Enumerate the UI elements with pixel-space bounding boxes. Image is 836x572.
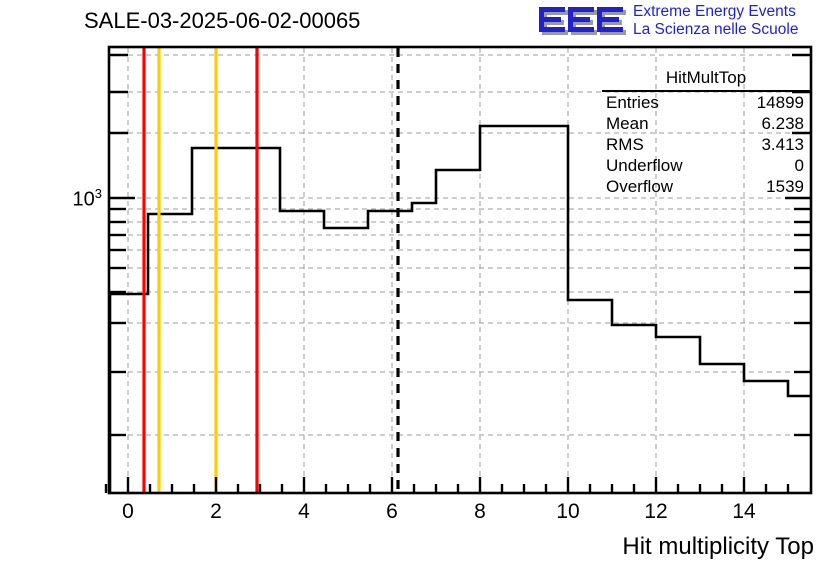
root-canvas: SALE-03-2025-06-02-00065 (0, 0, 836, 572)
stats-row-entries: Entries 14899 (602, 92, 810, 113)
stats-value-overflow: 1539 (766, 177, 810, 197)
stats-value-mean: 6.238 (761, 114, 810, 134)
x-tick-label-6: 6 (372, 500, 412, 524)
y-axis-ticks (110, 55, 135, 435)
stats-value-underflow: 0 (795, 156, 810, 176)
x-tick-label-0: 0 (108, 500, 148, 524)
stats-box: HitMultTop Entries 14899 Mean 6.238 RMS … (602, 68, 810, 197)
stats-key-underflow: Underflow (602, 156, 683, 176)
stats-box-title: HitMultTop (602, 68, 810, 92)
y-tick-exponent: 3 (95, 186, 102, 201)
stats-key-entries: Entries (602, 93, 659, 113)
x-tick-label-14: 14 (724, 500, 764, 524)
x-axis-ticks (106, 477, 788, 493)
x-tick-label-10: 10 (548, 500, 588, 524)
x-tick-label-12: 12 (636, 500, 676, 524)
stats-key-overflow: Overflow (602, 177, 673, 197)
stats-key-mean: Mean (602, 114, 649, 134)
stats-key-rms: RMS (602, 135, 644, 155)
x-tick-label-2: 2 (196, 500, 236, 524)
stats-row-rms: RMS 3.413 (602, 134, 810, 155)
y-tick-label-1e3: 103 (48, 186, 102, 212)
stats-row-underflow: Underflow 0 (602, 155, 810, 176)
stats-value-entries: 14899 (757, 93, 810, 113)
x-tick-label-4: 4 (284, 500, 324, 524)
x-tick-label-8: 8 (460, 500, 500, 524)
y-tick-mantissa: 10 (73, 189, 95, 211)
stats-row-overflow: Overflow 1539 (602, 176, 810, 197)
stats-row-mean: Mean 6.238 (602, 113, 810, 134)
stats-value-rms: 3.413 (761, 135, 810, 155)
x-axis-title: Hit multiplicity Top (622, 533, 814, 561)
